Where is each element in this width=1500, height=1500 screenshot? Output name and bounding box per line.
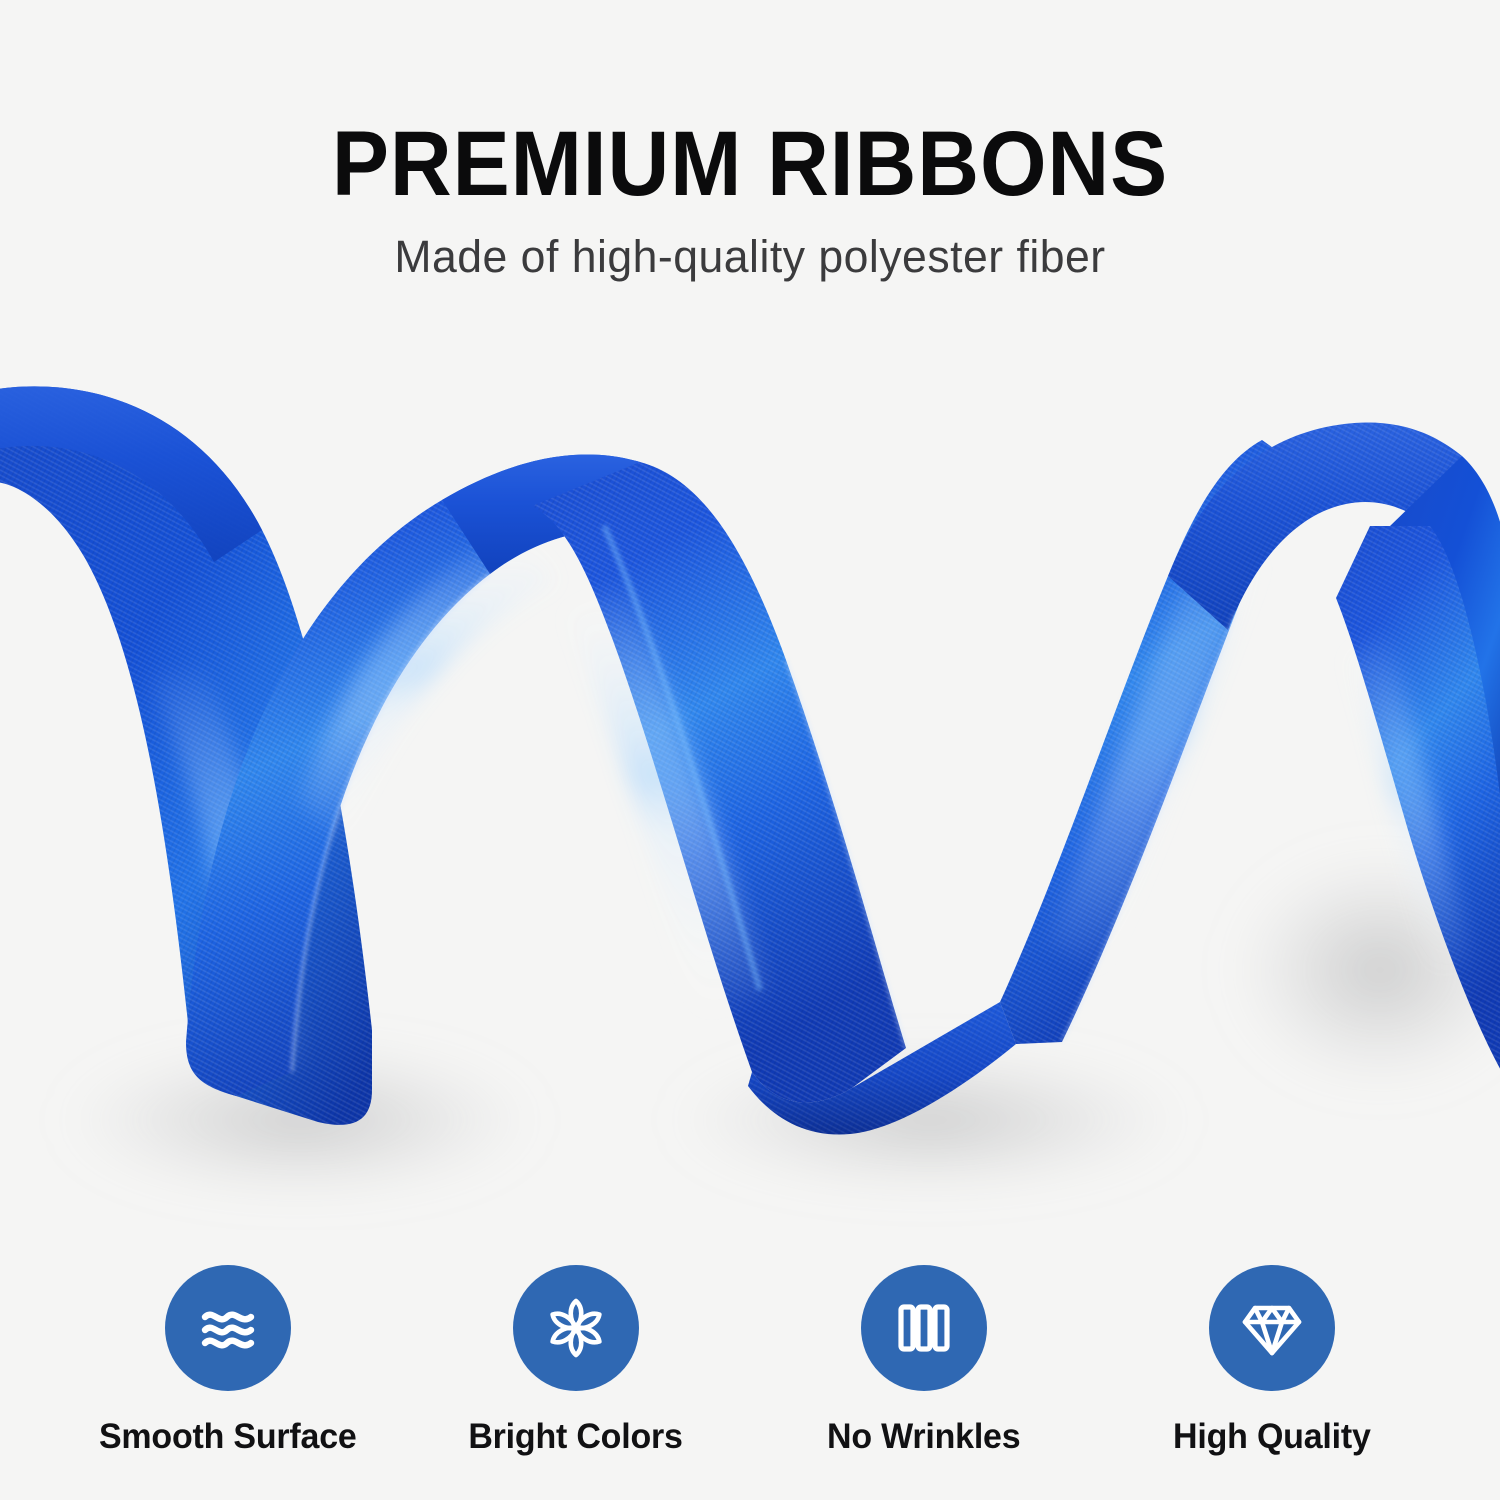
bars-icon xyxy=(887,1291,961,1365)
feature-badge xyxy=(513,1265,639,1391)
feature-label: Bright Colors xyxy=(469,1417,683,1457)
feature-item-no-wrinkles: No Wrinkles xyxy=(750,1265,1098,1457)
feature-label: Smooth Surface xyxy=(99,1417,357,1457)
diamond-icon xyxy=(1235,1291,1309,1365)
page-title: PREMIUM RIBBONS xyxy=(53,0,1448,210)
page-subtitle: Made of high-quality polyester fiber xyxy=(8,210,1493,279)
ribbon-product-photo xyxy=(0,330,1500,1230)
header: PREMIUM RIBBONS Made of high-quality pol… xyxy=(0,0,1500,279)
feature-list: Smooth Surface xyxy=(0,1265,1500,1500)
feature-badge xyxy=(861,1265,987,1391)
waves-icon xyxy=(191,1291,265,1365)
product-marketing-image: PREMIUM RIBBONS Made of high-quality pol… xyxy=(0,0,1500,1500)
ribbon-illustration xyxy=(0,330,1500,1230)
feature-item-smooth-surface: Smooth Surface xyxy=(54,1265,402,1457)
feature-label: No Wrinkles xyxy=(827,1417,1020,1457)
flower-icon xyxy=(539,1291,613,1365)
feature-item-bright-colors: Bright Colors xyxy=(402,1265,750,1457)
feature-badge xyxy=(1209,1265,1335,1391)
feature-item-high-quality: High Quality xyxy=(1098,1265,1446,1457)
feature-badge xyxy=(165,1265,291,1391)
feature-label: High Quality xyxy=(1173,1417,1371,1457)
